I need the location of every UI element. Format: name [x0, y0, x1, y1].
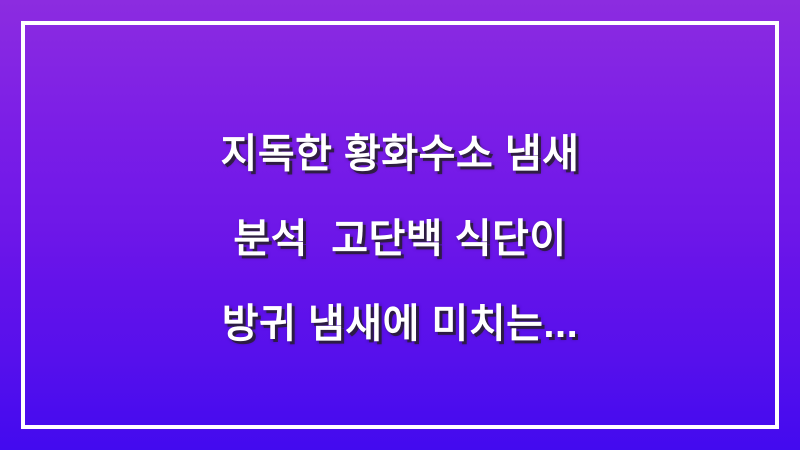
headline-line-1: 지독한 황화수소 냄새 — [221, 112, 580, 197]
headline-line-2: 분석 고단백 식단이 — [233, 197, 566, 282]
headline-text-block: 지독한 황화수소 냄새 분석 고단백 식단이 방귀 냄새에 미치는... — [0, 112, 800, 367]
thumbnail-card: 지독한 황화수소 냄새 분석 고단백 식단이 방귀 냄새에 미치는... — [0, 0, 800, 450]
headline-line-3: 방귀 냄새에 미치는... — [222, 282, 578, 367]
